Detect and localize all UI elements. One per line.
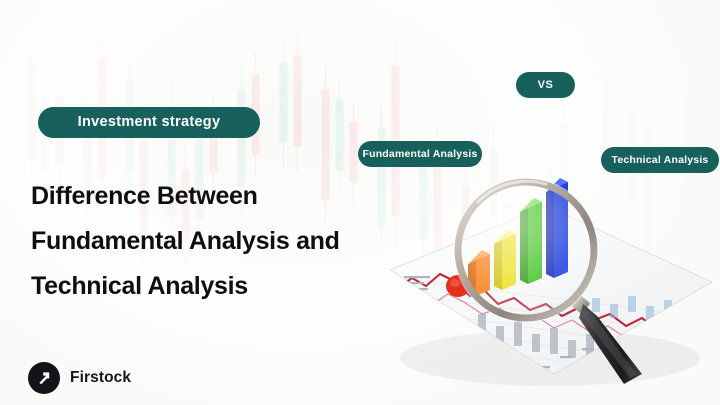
arrow-up-right-flag-icon xyxy=(35,369,53,387)
poster-canvas: Investment strategy VS Fundamental Analy… xyxy=(0,0,720,405)
title-line-3: Technical Analysis xyxy=(31,264,411,309)
title-line-2: Fundamental Analysis and xyxy=(31,219,411,264)
title-line-1: Difference Between xyxy=(31,174,411,219)
badge-fundamental-analysis[interactable]: Fundamental Analysis xyxy=(358,141,482,167)
badge-investment-strategy[interactable]: Investment strategy xyxy=(38,107,260,138)
firstock-logo-mark xyxy=(28,362,60,394)
badge-versus[interactable]: VS xyxy=(516,72,575,98)
hero-illustration xyxy=(378,178,720,393)
badge-technical-analysis[interactable]: Technical Analysis xyxy=(601,147,719,173)
page-title: Difference Between Fundamental Analysis … xyxy=(31,174,411,309)
brand-name: Firstock xyxy=(70,369,131,387)
brand-lockup[interactable]: Firstock xyxy=(28,362,131,394)
magnifier-lens xyxy=(454,178,598,322)
